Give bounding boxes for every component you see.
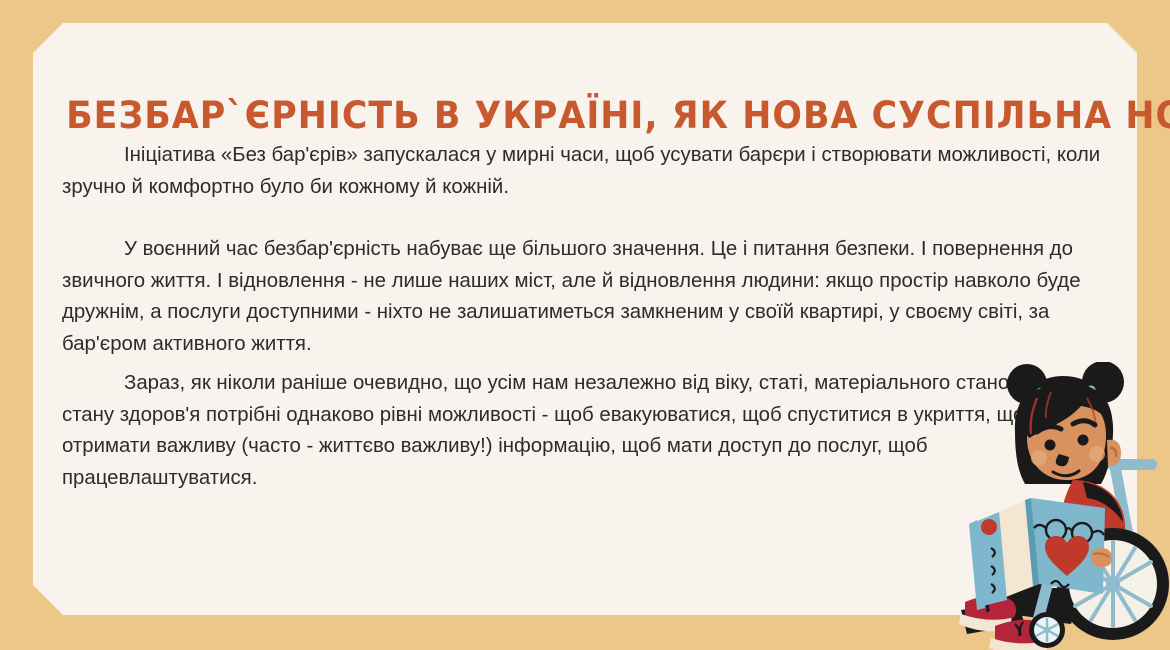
paragraph-3: Зараз, як ніколи раніше очевидно, що усі… [62, 368, 1107, 494]
body-copy: Ініціатива «Без бар'єрів» запускалася у … [62, 140, 1107, 494]
paragraph-2: У воєнний час безбар'єрність набуває ще … [62, 234, 1107, 360]
slide-canvas: БЕЗБАР`ЄРНІСТЬ В УКРАЇНІ, ЯК НОВА СУСПІЛ… [0, 0, 1170, 650]
page-title: БЕЗБАР`ЄРНІСТЬ В УКРАЇНІ, ЯК НОВА СУСПІЛ… [66, 97, 1104, 134]
caster-wheel-icon [1029, 612, 1065, 648]
paragraph-1: Ініціатива «Без бар'єрів» запускалася у … [62, 140, 1107, 203]
